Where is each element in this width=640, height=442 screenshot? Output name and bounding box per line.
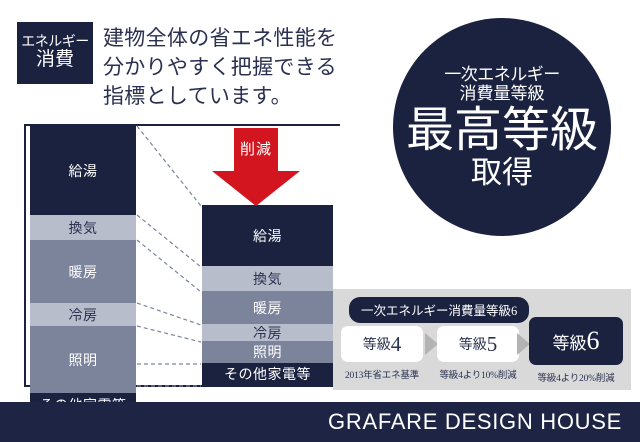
grade6-bar-segment-3-label: 冷房 xyxy=(253,323,282,343)
grade6-bar-segment-2-label: 暖房 xyxy=(253,298,282,318)
circle-badge-subtitle-line1: 一次エネルギー xyxy=(444,66,560,83)
baseline-bar-segment-0-label: 給湯 xyxy=(69,161,98,181)
baseline-bar-segment-2: 暖房 xyxy=(30,240,136,303)
baseline-bar-segment-1-label: 換気 xyxy=(69,218,98,238)
grade-box-6-number: 6 xyxy=(587,326,600,356)
grade-box-6-prefix: 等級 xyxy=(553,329,587,354)
grade6-bar-segment-2: 暖房 xyxy=(202,291,333,324)
grade-item-5: 等級5 等級4より10%削減 xyxy=(437,326,519,381)
reduction-arrow-label: 削減 xyxy=(212,138,300,159)
grade6-bar-segment-1: 換気 xyxy=(202,266,333,291)
footer-brand-bar: GRAFARE DESIGN HOUSE xyxy=(0,402,640,442)
baseline-bar-segment-2-label: 暖房 xyxy=(69,262,98,282)
grade6-bar-segment-1-label: 換気 xyxy=(253,269,282,289)
grade-caption-5: 等級4より10%削減 xyxy=(437,367,519,381)
baseline-bar-segment-1: 換気 xyxy=(30,215,136,240)
grade-item-4: 等級4 2013年省エネ基準 xyxy=(341,326,423,381)
grade6-bar-segment-4: 照明 xyxy=(202,341,333,363)
baseline-bar-segment-0: 給湯 xyxy=(30,126,136,215)
grade-box-4-number: 4 xyxy=(391,332,402,357)
grade-box-5: 等級5 xyxy=(437,326,519,362)
grade-panel-pill-label: 一次エネルギー消費量等級6 xyxy=(349,297,529,323)
grade6-bar-segment-5: その他家電等 xyxy=(202,363,333,385)
chart-axis-left xyxy=(24,124,26,387)
arrow-head-icon xyxy=(212,171,300,206)
grade-item-6: 等級6 等級4より20%削減 xyxy=(529,317,623,384)
grade-box-4: 等級4 xyxy=(341,326,423,362)
grade-box-5-number: 5 xyxy=(487,332,498,357)
grade6-bar-segment-3: 冷房 xyxy=(202,324,333,341)
baseline-bar-segment-4-label: 照明 xyxy=(69,350,98,370)
bar-baseline: 給湯換気暖房冷房照明その他家電等 xyxy=(30,126,136,416)
baseline-bar-segment-3-label: 冷房 xyxy=(69,305,98,325)
grade-caption-4: 2013年省エネ基準 xyxy=(341,367,423,381)
grade6-bar-segment-5-label: その他家電等 xyxy=(224,364,311,384)
baseline-bar-segment-4: 照明 xyxy=(30,326,136,393)
bar-grade6: 給湯換気暖房冷房照明その他家電等 xyxy=(202,205,333,385)
baseline-bar-segment-3: 冷房 xyxy=(30,303,136,326)
grade-box-6: 等級6 xyxy=(529,317,623,365)
reduction-arrow: 削減 xyxy=(212,128,300,206)
grade6-bar-segment-0: 給湯 xyxy=(202,205,333,266)
grade6-bar-segment-0-label: 給湯 xyxy=(253,226,282,246)
grade-box-4-prefix: 等級 xyxy=(363,334,391,354)
top-grade-circle-badge: 一次エネルギー 消費量等級 最高等級 取得 xyxy=(393,18,611,236)
circle-badge-headline-secondary: 取得 xyxy=(471,157,533,188)
grade6-bar-segment-4-label: 照明 xyxy=(253,342,282,362)
brand-name: GRAFARE DESIGN HOUSE xyxy=(328,409,622,435)
grade-caption-6: 等級4より20%削減 xyxy=(529,370,623,384)
circle-badge-headline: 最高等級 xyxy=(406,107,598,155)
circle-badge-subtitle-line2: 消費量等級 xyxy=(460,85,545,102)
infographic-page: エネルギー 消費 建物全体の省エネ性能を 分かりやすく把握できる 指標としていま… xyxy=(0,0,640,442)
grade-progression-panel: 一次エネルギー消費量等級6 等級4 2013年省エネ基準 等級5 等級4より10… xyxy=(333,289,631,390)
grade-box-5-prefix: 等級 xyxy=(459,334,487,354)
